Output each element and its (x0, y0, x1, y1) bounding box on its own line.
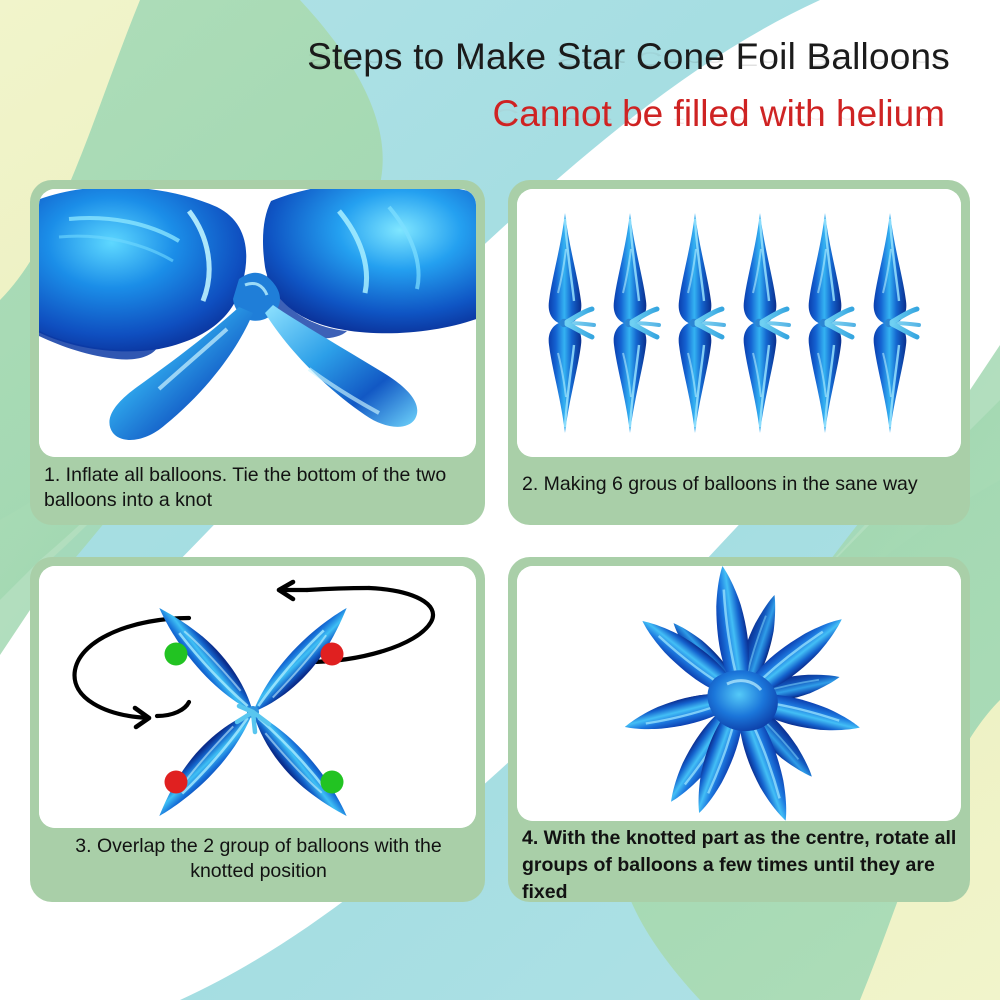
page-title: Steps to Make Star Cone Foil Balloons St… (0, 36, 950, 78)
step-card-2: 2. Making 6 grous of balloons in the san… (508, 180, 970, 525)
marker-dot-red-top-right (321, 643, 344, 666)
six-balloon-pairs-grid-illustration (517, 189, 961, 457)
step-card-1: 1. Inflate all balloons. Tie the bottom … (30, 180, 485, 525)
step-card-4: 4. With the knotted part as the centre, … (508, 557, 970, 902)
marker-dot-green-bottom-right (321, 771, 344, 794)
step-1-caption: 1. Inflate all balloons. Tie the bottom … (44, 463, 473, 513)
infographic-stage: Steps to Make Star Cone Foil Balloons St… (0, 0, 1000, 1000)
page-title-text: Steps to Make Star Cone Foil Balloons (307, 36, 950, 77)
marker-dot-green-top-left (165, 643, 188, 666)
step-2-photo (517, 189, 961, 457)
marker-dot-red-bottom-left (165, 771, 188, 794)
step-3-caption: 3. Overlap the 2 group of balloons with … (44, 834, 473, 884)
step-4-caption: 4. With the knotted part as the centre, … (522, 825, 958, 906)
step-4-photo (517, 566, 961, 821)
step-card-3: 3. Overlap the 2 group of balloons with … (30, 557, 485, 902)
warning-subtitle-text: Cannot be filled with helium (493, 93, 945, 134)
step-3-photo (39, 566, 476, 828)
header: Steps to Make Star Cone Foil Balloons St… (0, 0, 1000, 170)
step-2-caption: 2. Making 6 grous of balloons in the san… (522, 472, 958, 497)
finished-star-cone-balloon-illustration (517, 566, 961, 821)
step-1-photo (39, 189, 476, 457)
warning-subtitle: Cannot be filled with helium Cannot be f… (0, 93, 945, 135)
two-inflated-balloons-knotted-illustration (39, 189, 476, 457)
two-groups-overlapped-x-illustration (39, 566, 476, 828)
